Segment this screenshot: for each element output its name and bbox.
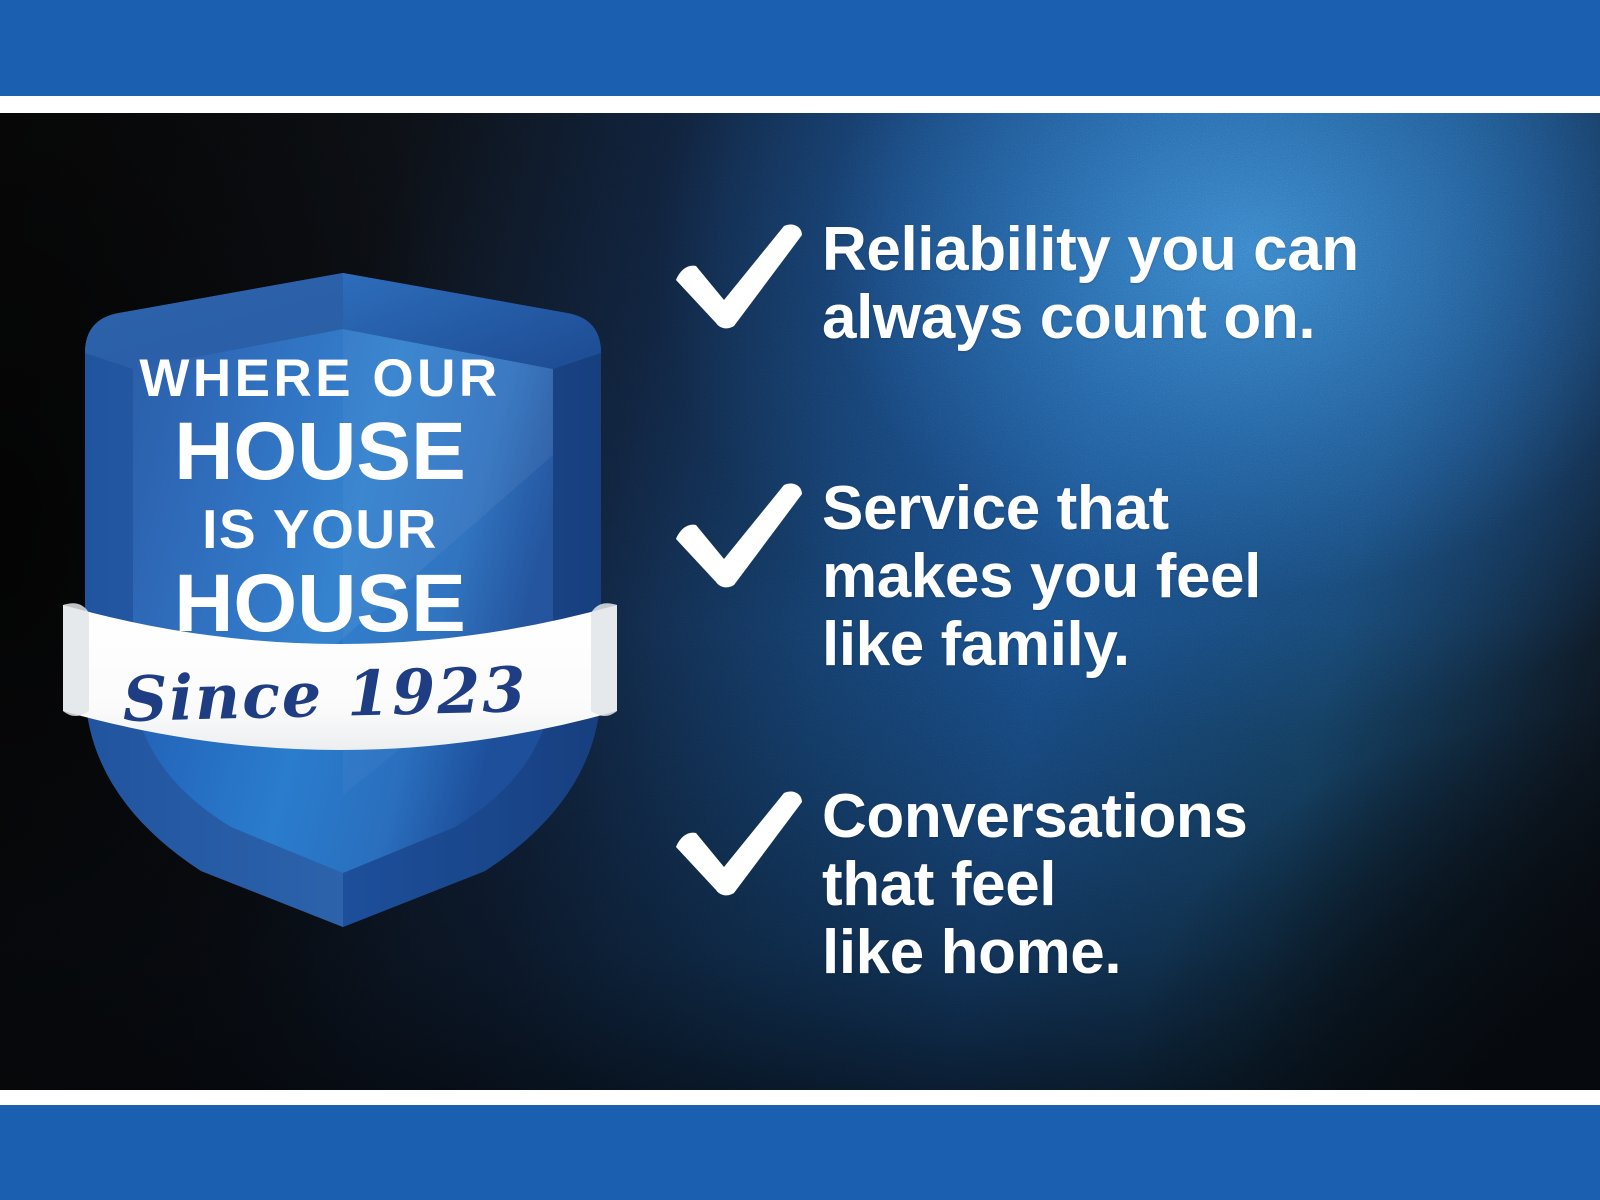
benefit-item: Service that makes you feel like family.	[672, 475, 1261, 680]
benefit-text: Reliability you can always count on.	[822, 216, 1359, 352]
benefit-item: Reliability you can always count on.	[672, 216, 1359, 352]
badge-tagline-line-1: WHERE OUR	[55, 352, 585, 405]
checkmark-icon	[672, 475, 822, 589]
benefit-text: Conversations that feel like home.	[822, 783, 1247, 988]
promo-banner: WHERE OUR HOUSE IS YOUR HOUSE Since 1923…	[0, 0, 1600, 1200]
badge-tagline-line-4: HOUSE	[55, 563, 585, 645]
checkmark-icon	[672, 783, 822, 897]
bottom-brand-bar	[0, 1105, 1600, 1200]
benefit-item: Conversations that feel like home.	[672, 783, 1247, 988]
badge-tagline-line-2: HOUSE	[55, 411, 585, 493]
badge-since-label: Since 1923	[54, 657, 595, 732]
badge-tagline-line-3: IS YOUR	[55, 502, 585, 557]
checkmark-icon	[672, 216, 822, 330]
benefits-list: Reliability you can always count on. Ser…	[672, 113, 1542, 1090]
benefit-text: Service that makes you feel like family.	[822, 475, 1261, 680]
shield-badge: WHERE OUR HOUSE IS YOUR HOUSE Since 1923	[55, 155, 625, 935]
top-brand-bar	[0, 0, 1600, 96]
